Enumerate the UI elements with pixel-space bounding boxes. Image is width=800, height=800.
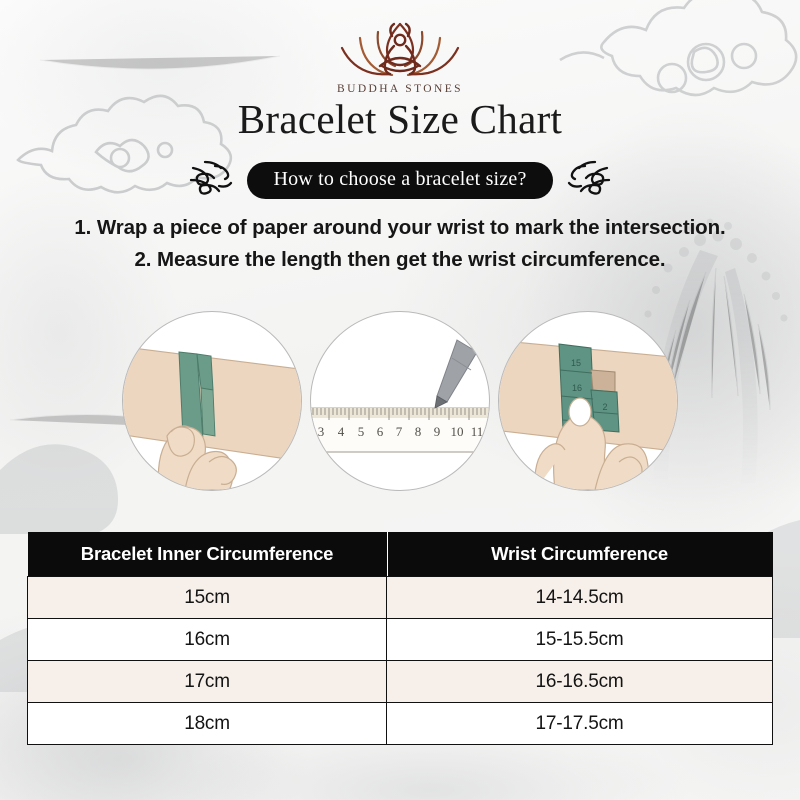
subtitle-row: How to choose a bracelet size?	[0, 160, 800, 201]
table-row: 17cm 16-16.5cm	[28, 661, 773, 703]
instruction-steps: 1. Wrap a piece of paper around your wri…	[0, 212, 800, 276]
svg-text:3: 3	[318, 424, 325, 439]
svg-text:8: 8	[415, 424, 422, 439]
svg-text:4: 4	[338, 424, 345, 439]
svg-text:7: 7	[396, 424, 403, 439]
cell-bracelet-size: 17cm	[28, 661, 387, 703]
cell-bracelet-size: 18cm	[28, 703, 387, 745]
flourish-ornament-left-icon	[189, 160, 235, 201]
illustration-wrist-with-paper-strip	[122, 311, 302, 491]
column-header-wrist-circumference: Wrist Circumference	[387, 532, 773, 577]
svg-text:10: 10	[451, 424, 464, 439]
cell-wrist-size: 17-17.5cm	[387, 703, 773, 745]
illustration-ruler-with-pencil: 3 4 5 6 7 8 9 10 11 12	[310, 311, 490, 491]
instruction-step-1: 1. Wrap a piece of paper around your wri…	[0, 212, 800, 244]
svg-text:11: 11	[471, 424, 484, 439]
table-row: 18cm 17-17.5cm	[28, 703, 773, 745]
illustration-measuring-tape-on-wrist: 15 16 17 2	[498, 311, 678, 491]
page-title: Bracelet Size Chart	[0, 98, 800, 141]
brand-name: BUDDHA STONES	[337, 83, 463, 95]
size-chart-page: BUDDHA STONES Bracelet Size Chart How to…	[0, 0, 800, 800]
column-header-bracelet-inner-circumference: Bracelet Inner Circumference	[28, 532, 387, 577]
cell-wrist-size: 14-14.5cm	[387, 577, 773, 619]
illustration-row: 3 4 5 6 7 8 9 10 11 12	[0, 311, 800, 491]
svg-text:5: 5	[358, 424, 365, 439]
table-row: 15cm 14-14.5cm	[28, 577, 773, 619]
flourish-ornament-right-icon	[565, 160, 611, 201]
instruction-step-2: 2. Measure the length then get the wrist…	[0, 244, 800, 276]
size-table: Bracelet Inner Circumference Wrist Circu…	[27, 532, 773, 745]
svg-text:2: 2	[602, 402, 607, 412]
svg-text:12: 12	[489, 424, 490, 439]
table-row: 16cm 15-15.5cm	[28, 619, 773, 661]
cell-wrist-size: 16-16.5cm	[387, 661, 773, 703]
brand-logo: BUDDHA STONES	[0, 18, 800, 95]
svg-text:15: 15	[571, 358, 581, 368]
table-header-row: Bracelet Inner Circumference Wrist Circu…	[28, 532, 773, 577]
svg-text:16: 16	[572, 383, 582, 393]
size-table-wrapper: Bracelet Inner Circumference Wrist Circu…	[27, 532, 773, 745]
cell-wrist-size: 15-15.5cm	[387, 619, 773, 661]
cell-bracelet-size: 16cm	[28, 619, 387, 661]
subtitle-pill: How to choose a bracelet size?	[247, 162, 552, 199]
lotus-meditation-logo-icon	[330, 18, 470, 81]
cell-bracelet-size: 15cm	[28, 577, 387, 619]
svg-text:6: 6	[377, 424, 384, 439]
svg-text:9: 9	[434, 424, 441, 439]
